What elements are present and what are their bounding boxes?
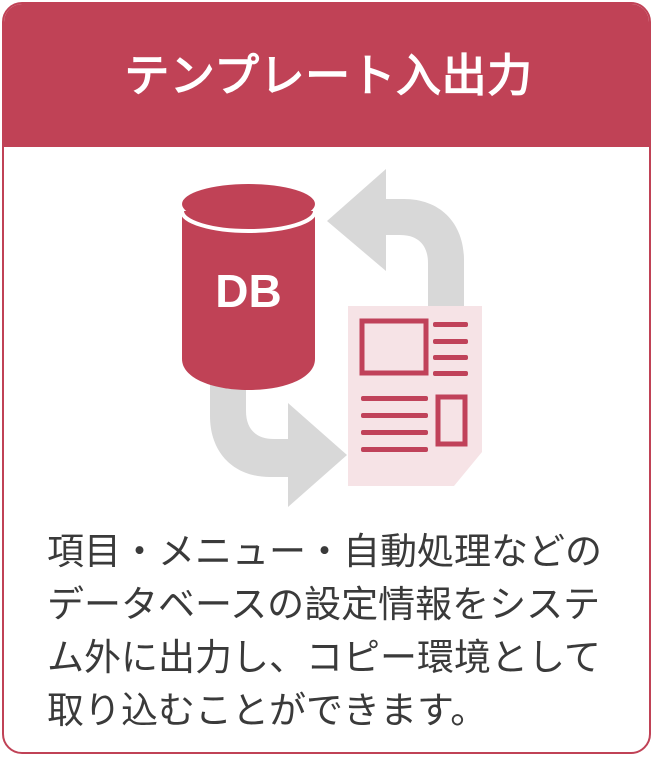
document-line-bl-1 — [361, 396, 428, 401]
description-line-3: ム外に出力し、コピー環境として — [47, 631, 617, 684]
card-body: DB 項目・メニュー・自動処理などの データベースの設定情報をシステ ム外に出力… — [4, 147, 649, 752]
card-header: テンプレート入出力 — [2, 2, 651, 147]
database-top-disc — [182, 184, 315, 224]
document-line-bl-2 — [361, 413, 428, 418]
document-line-tr-2 — [433, 339, 468, 344]
description-line-2: データベースの設定情報をシステ — [47, 578, 617, 631]
import-arrow-icon — [327, 169, 464, 315]
document-line-tr-4 — [433, 371, 468, 376]
document-line-tr-3 — [433, 355, 468, 360]
illustration: DB — [4, 147, 649, 507]
export-arrow-icon — [210, 377, 347, 507]
document-line-bl-3 — [361, 430, 428, 435]
description-line-4: 取り込むことができます。 — [47, 684, 617, 737]
page-title: テンプレート入出力 — [124, 53, 532, 98]
template-io-diagram-svg: DB — [4, 147, 649, 507]
document-line-bl-4 — [361, 447, 428, 452]
template-io-card: テンプレート入出力 — [2, 2, 651, 754]
description-line-1: 項目・メニュー・自動処理などの — [47, 525, 617, 578]
document-line-tr-1 — [433, 322, 468, 327]
database-label: DB — [215, 265, 281, 317]
description-text: 項目・メニュー・自動処理などの データベースの設定情報をシステ ム外に出力し、コ… — [47, 525, 617, 737]
document-icon — [348, 306, 482, 486]
database-icon: DB — [182, 184, 315, 390]
